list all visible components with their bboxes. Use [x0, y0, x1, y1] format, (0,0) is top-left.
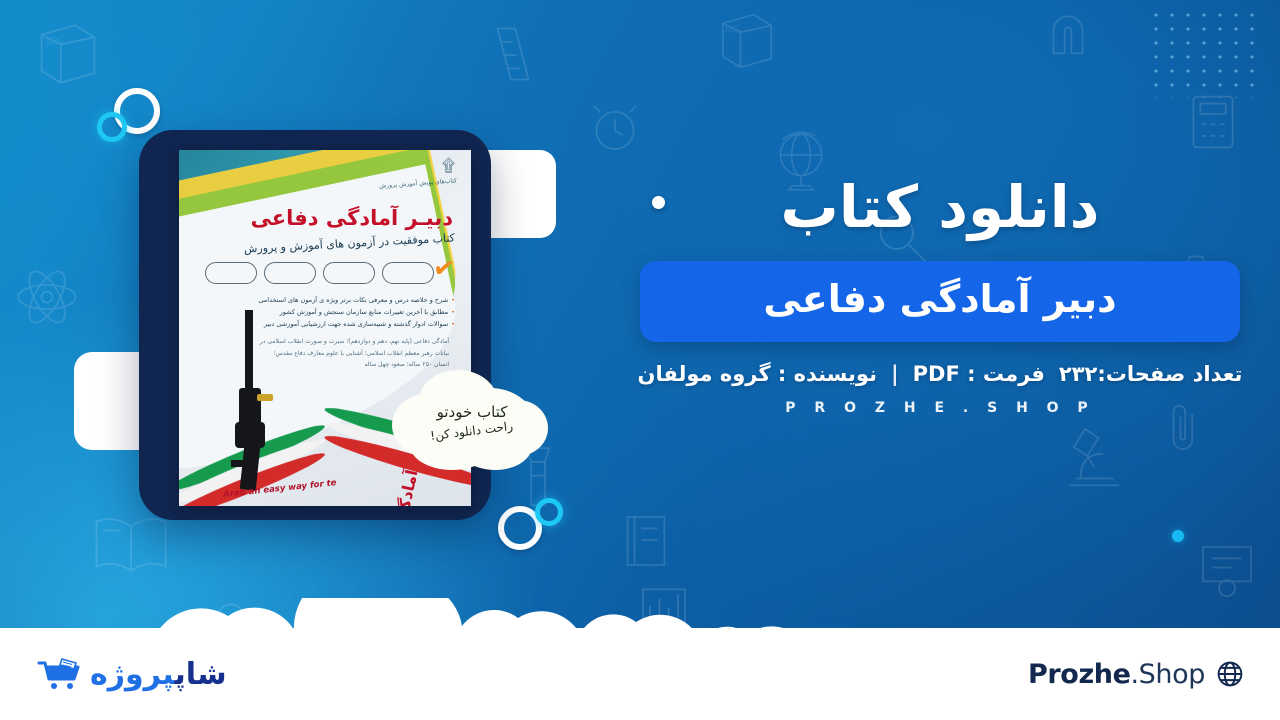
- footer-logo-part-secondary: شاپ: [175, 657, 227, 692]
- dot-grid-pattern: [1148, 8, 1258, 98]
- page-title: دانلود کتاب: [640, 176, 1240, 239]
- footer-brand[interactable]: Prozhe.Shop: [1028, 659, 1244, 690]
- cover-bubble: [205, 262, 257, 284]
- bubble-line-2: راحت دانلود کن!: [430, 418, 514, 442]
- cover-bubble: [323, 262, 375, 284]
- bubble-text: کتاب خودتو راحت دانلود کن!: [392, 368, 552, 472]
- cover-title: دبیـر آمادگی دفاعی: [203, 206, 453, 230]
- cover-bullet: شرح و خلاصه درس و معرفی نکات برتر ویژه ی…: [203, 294, 455, 306]
- footer-logo-fa-text: شاپپروژه: [90, 657, 227, 692]
- brand-name-secondary: .Shop: [1131, 659, 1206, 690]
- site-watermark: P R O Z H E . S H O P: [640, 400, 1240, 416]
- cover-bubble: [264, 262, 316, 284]
- globe-icon: [1216, 660, 1244, 688]
- hero-text-block: دانلود کتاب دبیر آمادگی دفاعی تعداد صفحا…: [640, 176, 1240, 416]
- cover-emblem-icon: ۩: [442, 158, 455, 175]
- shopping-cart-icon: [36, 657, 82, 691]
- decor-dot-cyan: [1172, 530, 1184, 542]
- decor-ring-cyan-top: [97, 112, 127, 142]
- meta-author: نویسنده : گروه مولفان: [638, 362, 877, 386]
- meta-pages: تعداد صفحات:۲۳۲: [1059, 362, 1243, 386]
- bubble-line-1: کتاب خودتو: [437, 403, 508, 421]
- footer-logo-part-primary: پروژه: [90, 657, 175, 692]
- meta-separator: |: [891, 362, 899, 386]
- cover-paragraph: آمادگی دفاعی (پایه نهم، دهم و دوازدهم)؛ …: [259, 336, 449, 371]
- decor-ring-cyan-bottom: [535, 498, 563, 526]
- cover-answer-bubbles: [205, 262, 455, 284]
- banner-canvas: ABC ABC: [0, 0, 1280, 720]
- brand-name-primary: Prozhe: [1028, 659, 1131, 690]
- promo-speech-bubble: کتاب خودتو راحت دانلود کن!: [392, 368, 552, 472]
- book-metadata: تعداد صفحات:۲۳۲ فرمت : PDF | نویسنده : گ…: [640, 362, 1240, 386]
- book-title-badge[interactable]: دبیر آمادگی دفاعی: [640, 261, 1240, 343]
- meta-format: فرمت : PDF: [913, 362, 1045, 386]
- footer-bar: Prozhe.Shop شاپپروژه: [0, 628, 1280, 720]
- rifle-illustration: [225, 310, 279, 500]
- footer-brand-name: Prozhe.Shop: [1028, 659, 1205, 690]
- check-icon: ✔: [431, 255, 456, 284]
- footer-logo-fa[interactable]: شاپپروژه: [36, 657, 227, 692]
- cover-bubble: [382, 262, 434, 284]
